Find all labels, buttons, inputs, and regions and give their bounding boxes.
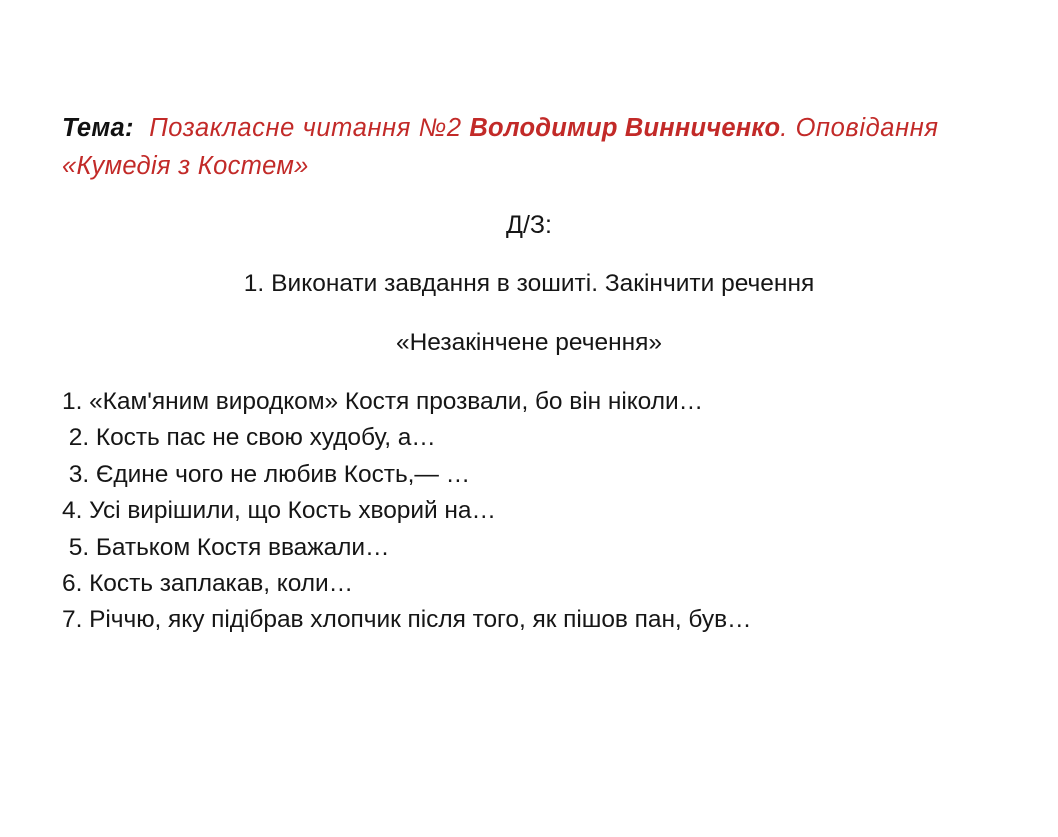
title-work-name: «Кумедія з Костем» — [62, 148, 1014, 184]
title-author: Володимир Винниченко — [469, 114, 780, 142]
slide-title: Тема: Позакласне читання №2 Володимир Ви… — [62, 110, 1014, 184]
list-item: 4. Усі вирішили, що Кость хворий на… — [62, 493, 1022, 529]
list-item: 2. Кость пас не свою худобу, а… — [62, 420, 1022, 456]
title-genre: . Оповідання — [780, 114, 938, 142]
title-topic: Позакласне читання №2 — [149, 114, 469, 142]
homework-task-text: Виконати завдання в зошиті. Закінчити ре… — [271, 270, 814, 297]
title-label: Тема: — [62, 114, 134, 142]
homework-task-number: 1. — [244, 270, 264, 297]
homework-heading: Д/З: — [0, 211, 1058, 240]
list-item: 1. «Кам'яним виродком» Костя прозвали, б… — [62, 384, 1022, 420]
homework-subtitle: «Незакінчене речення» — [0, 329, 1058, 357]
list-item: 5. Батьком Костя вважали… — [62, 530, 1022, 566]
title-topic-text — [134, 114, 149, 142]
list-item: 7. Річчю, яку підібрав хлопчик після тог… — [62, 602, 1022, 638]
sentence-list: 1. «Кам'яним виродком» Костя прозвали, б… — [62, 384, 1022, 639]
homework-task: 1.Виконати завдання в зошиті. Закінчити … — [0, 270, 1058, 298]
list-item: 6. Кость заплакав, коли… — [62, 566, 1022, 602]
slide-canvas: Тема: Позакласне читання №2 Володимир Ви… — [0, 0, 1058, 837]
list-item: 3. Єдине чого не любив Кость,— … — [62, 457, 1022, 493]
